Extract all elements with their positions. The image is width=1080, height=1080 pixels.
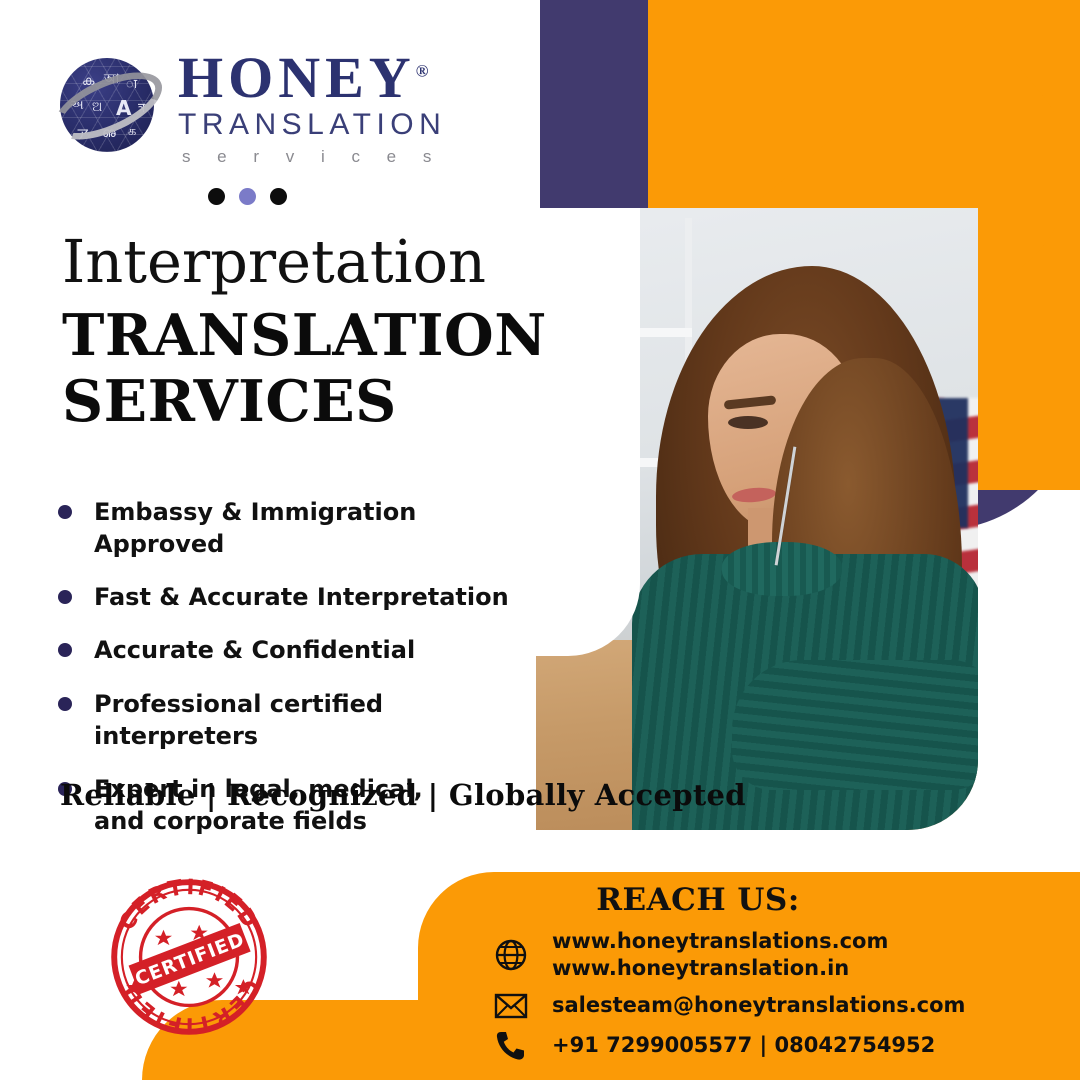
bullet-dot-icon	[58, 697, 72, 711]
page-title: Interpretation TRANSLATION SERVICES	[62, 232, 547, 435]
photo-collar	[722, 542, 842, 596]
certified-stamp-icon: CERTIFIED CERTIFIED CERTIFIED	[104, 872, 274, 1042]
brand-logo: ക আ ा અ ଅ A त्र ア ഌ க HONEY® TRANSLATION…	[52, 46, 446, 167]
dot-one	[208, 188, 225, 205]
list-item-label: Fast & Accurate Interpretation	[94, 581, 509, 613]
contact-row-email[interactable]: salesteam@honeytranslations.com	[490, 992, 1050, 1020]
website-line-1[interactable]: www.honeytranslations.com	[552, 929, 888, 953]
headline-line-2: SERVICES	[62, 369, 547, 435]
photo-eye	[728, 416, 768, 429]
list-item: Embassy & Immigration Approved	[58, 496, 528, 560]
headline-line-1: TRANSLATION	[62, 303, 547, 369]
brand-wordmark: HONEY® TRANSLATION s e r v i c e s	[178, 46, 446, 167]
bullet-dot-icon	[58, 505, 72, 519]
list-item: Accurate & Confidential	[58, 634, 528, 666]
globe-logo-icon: ക আ ा અ ଅ A त्र ア ഌ க	[52, 50, 164, 162]
dot-two	[239, 188, 256, 205]
list-item-label: Professional certified interpreters	[94, 688, 528, 752]
phone-icon	[490, 1029, 532, 1063]
headline-script-line: Interpretation	[62, 232, 547, 291]
registered-mark: ®	[416, 62, 429, 81]
dot-three	[270, 188, 287, 205]
email-text[interactable]: salesteam@honeytranslations.com	[552, 992, 965, 1019]
brand-name-primary: HONEY®	[178, 50, 446, 106]
tagline: Reliable | Recognized | Globally Accepte…	[60, 778, 746, 812]
bullet-dot-icon	[58, 590, 72, 604]
envelope-icon	[490, 992, 532, 1020]
contact-details: www.honeytranslations.com www.honeytrans…	[490, 928, 1050, 1072]
brand-name-tertiary: s e r v i c e s	[178, 147, 446, 167]
list-item: Fast & Accurate Interpretation	[58, 581, 528, 613]
list-item: Professional certified interpreters	[58, 688, 528, 752]
contact-row-phone[interactable]: +91 7299005577 | 08042754952	[490, 1029, 1050, 1063]
website-line-2[interactable]: www.honeytranslation.in	[552, 955, 888, 982]
bullet-dot-icon	[58, 643, 72, 657]
list-item-label: Accurate & Confidential	[94, 634, 415, 666]
globe-icon	[490, 938, 532, 972]
phone-text[interactable]: +91 7299005577 | 08042754952	[552, 1032, 935, 1059]
photo-arm	[732, 660, 978, 790]
logo-dot-divider	[208, 188, 287, 205]
brand-name-secondary: TRANSLATION	[178, 110, 446, 140]
svg-text:CERTIFIED: CERTIFIED	[115, 875, 264, 935]
contact-heading: REACH US:	[418, 882, 978, 918]
headline-main: TRANSLATION SERVICES	[62, 303, 547, 435]
contact-row-website[interactable]: www.honeytranslations.com www.honeytrans…	[490, 928, 1050, 983]
website-text[interactable]: www.honeytranslations.com www.honeytrans…	[552, 928, 888, 983]
photo-corner-notch	[536, 208, 640, 656]
list-item-label: Embassy & Immigration Approved	[94, 496, 528, 560]
